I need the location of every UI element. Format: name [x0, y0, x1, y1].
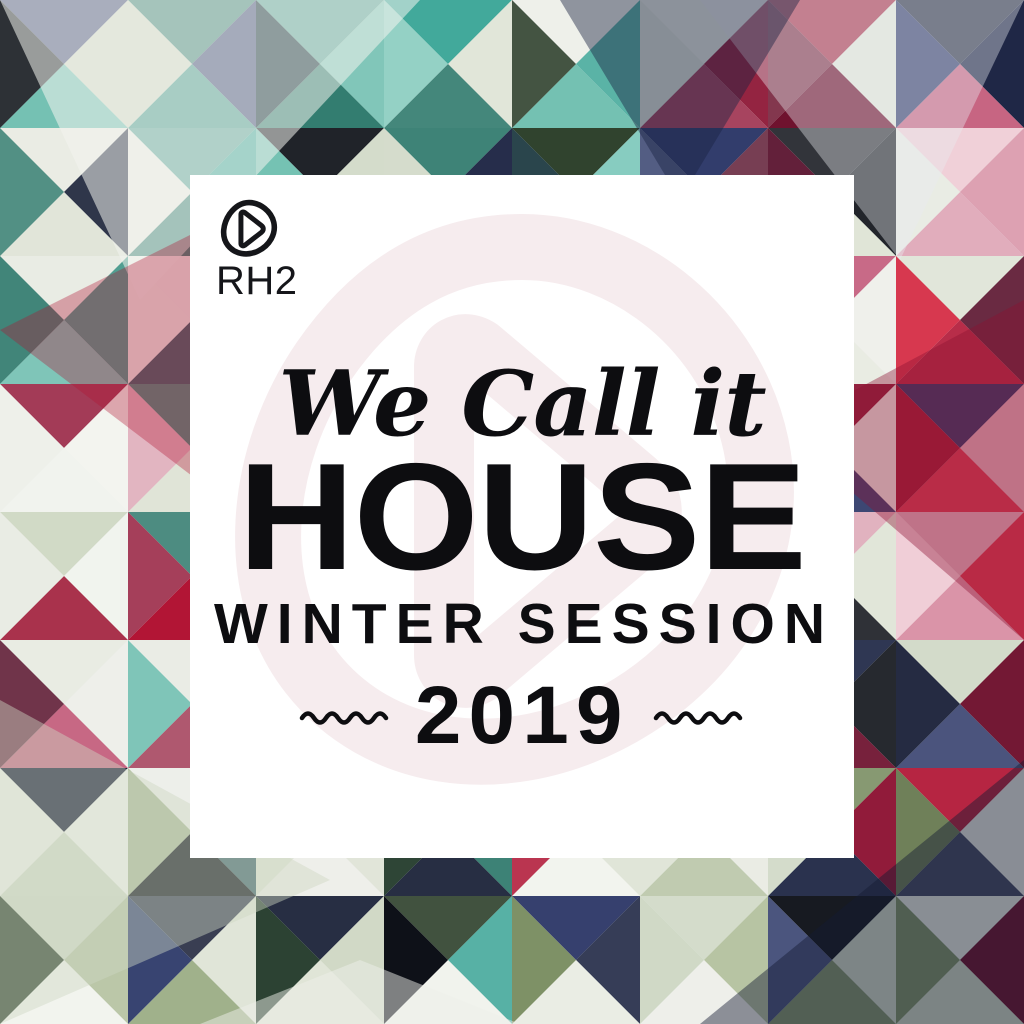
wavy-line-icon-left: [299, 706, 391, 726]
year-label: 2019: [415, 675, 630, 757]
year-row: 2019: [190, 675, 854, 757]
rh2-rounded-triangle-logo-icon: [218, 197, 280, 259]
title-block: We Call it HOUSE WINTER SESSION 2019: [190, 360, 854, 757]
album-cover: RH2 We Call it HOUSE WINTER SESSION 2019: [0, 0, 1024, 1024]
brand-lockup: RH2: [212, 197, 332, 301]
brand-wordmark: RH2: [216, 261, 332, 301]
wavy-line-icon-right: [653, 706, 745, 726]
title-subtitle-line: WINTER SESSION: [194, 596, 854, 653]
title-main-line: HOUSE: [190, 454, 854, 582]
cover-white-panel: RH2 We Call it HOUSE WINTER SESSION 2019: [190, 175, 854, 858]
